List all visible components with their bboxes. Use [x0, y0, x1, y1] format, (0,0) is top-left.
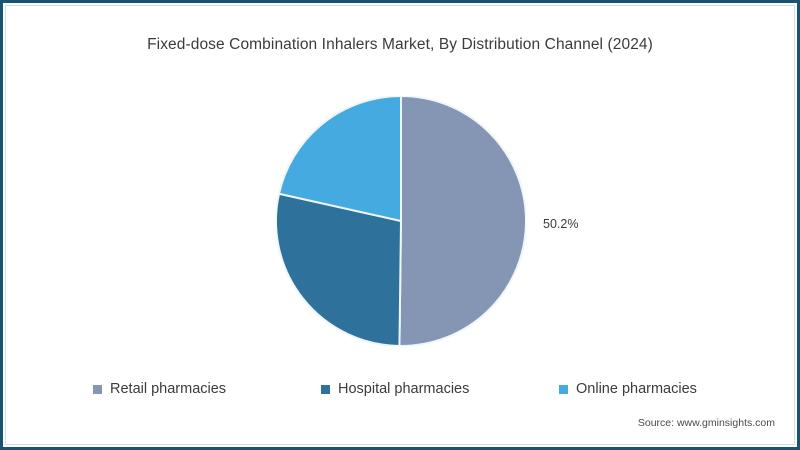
legend-swatch-icon-hospital-pharmacies	[321, 385, 330, 394]
legend-item-retail-pharmacies[interactable]: Retail pharmacies	[93, 377, 226, 401]
legend-swatch-icon-retail-pharmacies	[93, 385, 102, 394]
legend-label-online-pharmacies: Online pharmacies	[576, 381, 697, 397]
legend-item-hospital-pharmacies[interactable]: Hospital pharmacies	[321, 377, 469, 401]
legend-swatch-icon-online-pharmacies	[559, 385, 568, 394]
legend-label-hospital-pharmacies: Hospital pharmacies	[338, 381, 469, 397]
source-attribution: Source: www.gminsights.com	[638, 417, 775, 429]
pie-slice-retail-pharmacies[interactable]	[399, 96, 526, 346]
chart-card: Fixed-dose Combination Inhalers Market, …	[0, 0, 800, 450]
legend-label-retail-pharmacies: Retail pharmacies	[110, 381, 226, 397]
chart-legend: Retail pharmacies Hospital pharmacies On…	[3, 377, 800, 401]
pie-chart-svg	[276, 96, 526, 346]
legend-item-online-pharmacies[interactable]: Online pharmacies	[559, 377, 697, 401]
pie-slice-value-label-retail: 50.2%	[543, 217, 578, 231]
